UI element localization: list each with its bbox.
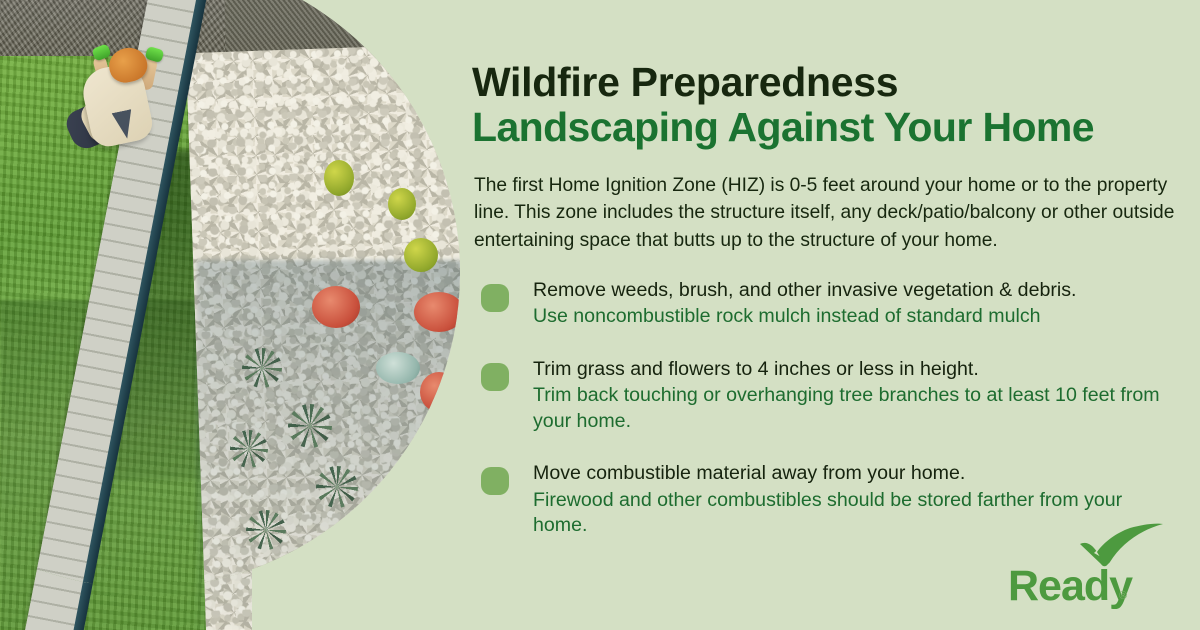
tips-list: Remove weeds, brush, and other invasive … — [480, 278, 1180, 539]
ornamental-grass-tuft — [288, 404, 332, 448]
bullet-secondary-text: Trim back touching or overhanging tree b… — [533, 383, 1180, 434]
intro-paragraph: The first Home Ignition Zone (HIZ) is 0-… — [474, 172, 1180, 254]
title-line-2: Landscaping Against Your Home — [472, 105, 1188, 151]
list-item: Remove weeds, brush, and other invasive … — [480, 278, 1180, 330]
landscaping-aerial-photo — [0, 0, 480, 630]
ready-wordmark: Ready — [1008, 565, 1132, 608]
shrub-red — [420, 372, 458, 412]
shrub-yellow — [388, 188, 416, 220]
bullet-dot-icon — [481, 467, 509, 495]
ornamental-grass-tuft — [242, 348, 282, 388]
page-title: Wildfire Preparedness Landscaping Agains… — [472, 62, 1188, 151]
shrub-red — [414, 292, 460, 332]
bullet-primary-text: Remove weeds, brush, and other invasive … — [533, 278, 1180, 303]
ready-trademark: ® — [1119, 590, 1127, 602]
bullet-primary-text: Move combustible material away from your… — [533, 461, 1180, 486]
wildfire-preparedness-infographic: Wildfire Preparedness Landscaping Agains… — [0, 0, 1200, 630]
content-panel: Wildfire Preparedness Landscaping Agains… — [472, 0, 1188, 630]
photo-circle-mask — [0, 0, 460, 588]
shrub-yellow — [324, 160, 354, 196]
title-line-1: Wildfire Preparedness — [472, 62, 1188, 103]
shrub-red — [312, 286, 360, 328]
bullet-secondary-text: Use noncombustible rock mulch instead of… — [533, 304, 1180, 329]
ornamental-grass-tuft — [316, 466, 358, 508]
list-item: Trim grass and flowers to 4 inches or le… — [480, 357, 1180, 434]
ready-logo: Ready ® — [1000, 522, 1170, 614]
shrub-blue — [376, 352, 420, 384]
bullet-primary-text: Trim grass and flowers to 4 inches or le… — [533, 357, 1180, 382]
bullet-dot-icon — [481, 284, 509, 312]
ornamental-grass-tuft — [230, 430, 268, 468]
bullet-dot-icon — [481, 363, 509, 391]
ornamental-grass-tuft — [246, 510, 286, 550]
shrub-yellow — [404, 238, 438, 272]
photo-layers — [0, 0, 460, 588]
landscaper-worker — [62, 42, 192, 172]
